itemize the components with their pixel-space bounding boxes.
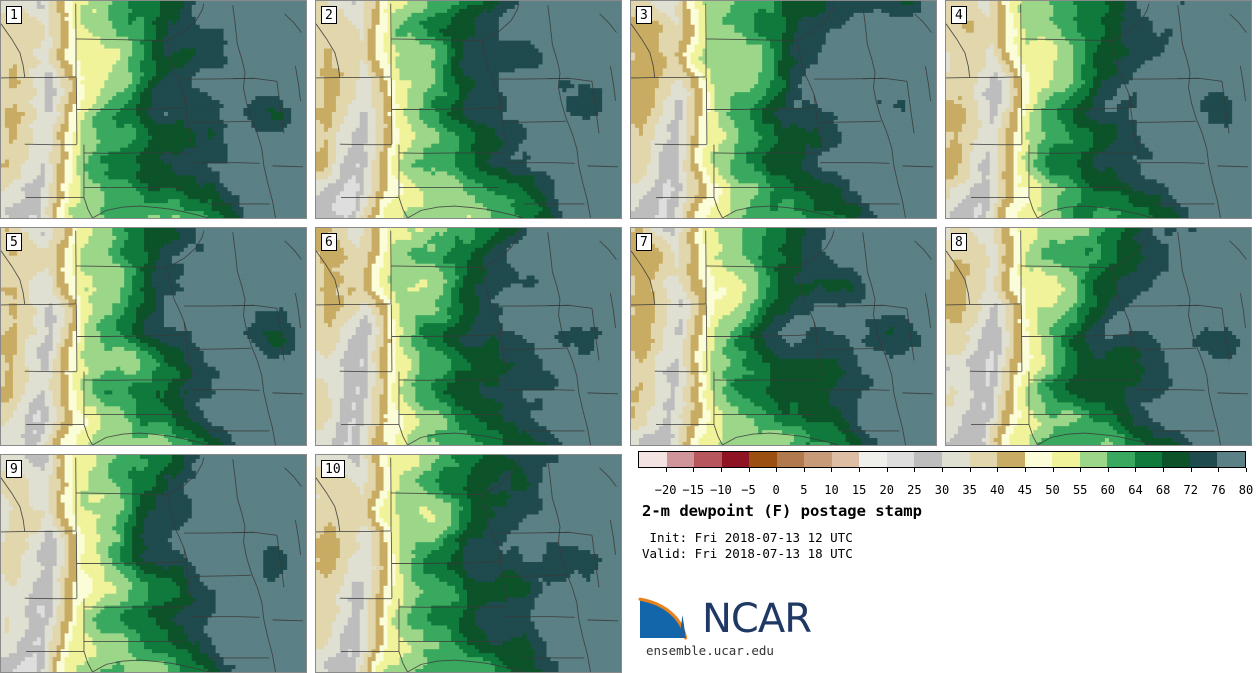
dewpoint-field [946, 1, 1251, 218]
ensemble-member-panel[interactable]: 6 [315, 227, 622, 446]
colorbar-tick-label: 80 [1239, 483, 1253, 497]
plot-title: 2-m dewpoint (F) postage stamp [642, 502, 922, 520]
colorbar-tick-label: 25 [907, 483, 921, 497]
dewpoint-contour-fill [631, 228, 936, 445]
panel-number-label: 6 [321, 233, 337, 251]
colorbar-tick-label: −5 [741, 483, 755, 497]
colorbar-tick [1025, 468, 1026, 472]
colorbar-swatch [667, 452, 695, 467]
dewpoint-contour-fill [316, 1, 621, 218]
ensemble-member-panel[interactable]: 5 [0, 227, 307, 446]
colorbar-swatch [970, 452, 998, 467]
colorbar-swatch [749, 452, 777, 467]
colorbar-tick [942, 468, 943, 472]
colorbar-swatch [1162, 452, 1190, 467]
colorbar-tick [1218, 468, 1219, 472]
colorbar-tick-label: 72 [1183, 483, 1197, 497]
colorbar-swatch [1190, 452, 1218, 467]
dewpoint-contour-fill [1, 1, 306, 218]
dewpoint-contour-fill [1, 228, 306, 445]
dewpoint-field [1, 455, 306, 672]
info-column: −20−15−10−505101520253035404550556064687… [630, 440, 1260, 663]
colorbar-swatch [1025, 452, 1053, 467]
colorbar-strip [638, 451, 1246, 468]
colorbar-tick [693, 468, 694, 472]
dewpoint-field [631, 228, 936, 445]
valid-time-label: Valid: Fri 2018-07-13 18 UTC [642, 546, 922, 561]
colorbar-tick [749, 468, 750, 472]
colorbar-swatch [1107, 452, 1135, 467]
panel-number-label: 3 [636, 6, 652, 24]
init-time-label: Init: Fri 2018-07-13 12 UTC [642, 530, 922, 545]
colorbar-swatch [1217, 452, 1245, 467]
panel-number-label: 4 [951, 6, 967, 24]
dewpoint-contour-fill [1, 455, 306, 672]
colorbar-tick-label: −20 [655, 483, 677, 497]
ncar-wordmark: NCAR [702, 597, 811, 641]
colorbar-tick-label: 68 [1156, 483, 1170, 497]
colorbar-tick [1053, 468, 1054, 472]
panel-number-label: 2 [321, 6, 337, 24]
colorbar-tick-label: 64 [1128, 483, 1142, 497]
colorbar-tick-label: 50 [1045, 483, 1059, 497]
colorbar-tick [831, 468, 832, 472]
dewpoint-contour-fill [631, 1, 936, 218]
dewpoint-field [316, 455, 621, 672]
colorbar-tick-label: 45 [1018, 483, 1032, 497]
colorbar-tick-label: 10 [824, 483, 838, 497]
colorbar-tick [914, 468, 915, 472]
colorbar-swatch [942, 452, 970, 467]
dewpoint-field [316, 1, 621, 218]
panel-number-label: 1 [6, 6, 22, 24]
colorbar-tick-label: 5 [800, 483, 807, 497]
panel-number-label: 8 [951, 233, 967, 251]
colorbar-tick-label: 60 [1101, 483, 1115, 497]
colorbar: −20−15−10−505101520253035404550556064687… [638, 451, 1246, 499]
colorbar-ticks [638, 468, 1246, 483]
colorbar-tick-label: 15 [852, 483, 866, 497]
colorbar-tick-label: 35 [962, 483, 976, 497]
colorbar-tick [887, 468, 888, 472]
site-url-label: ensemble.ucar.edu [646, 643, 811, 658]
colorbar-tick-label: 55 [1073, 483, 1087, 497]
colorbar-tick [859, 468, 860, 472]
colorbar-swatch [1052, 452, 1080, 467]
colorbar-tick-label: 30 [935, 483, 949, 497]
colorbar-tick [970, 468, 971, 472]
colorbar-tick [1108, 468, 1109, 472]
colorbar-tick-label: −10 [710, 483, 732, 497]
colorbar-tick [776, 468, 777, 472]
ensemble-member-panel[interactable]: 7 [630, 227, 937, 446]
panel-number-label: 5 [6, 233, 22, 251]
colorbar-tick-label: 40 [990, 483, 1004, 497]
colorbar-tick [1191, 468, 1192, 472]
colorbar-tick [666, 468, 667, 472]
colorbar-swatch [1135, 452, 1163, 467]
panel-number-label: 9 [6, 460, 22, 478]
colorbar-tick [1163, 468, 1164, 472]
ncar-logo-block: NCAR ensemble.ucar.edu [638, 595, 811, 658]
ensemble-member-panel[interactable]: 2 [315, 0, 622, 219]
dewpoint-field [946, 228, 1251, 445]
ensemble-member-panel[interactable]: 1 [0, 0, 307, 219]
colorbar-tick-label: 20 [879, 483, 893, 497]
colorbar-tick-label: 0 [773, 483, 780, 497]
colorbar-swatch [694, 452, 722, 467]
colorbar-tick-label: −15 [682, 483, 704, 497]
dewpoint-contour-fill [946, 228, 1251, 445]
ncar-logo-icon [638, 596, 700, 642]
colorbar-tick-labels: −20−15−10−505101520253035404550556064687… [638, 483, 1246, 499]
colorbar-tick [804, 468, 805, 472]
dewpoint-contour-fill [946, 1, 1251, 218]
dewpoint-field [316, 228, 621, 445]
panel-number-label: 10 [321, 460, 345, 478]
colorbar-swatch [832, 452, 860, 467]
colorbar-tick [1135, 468, 1136, 472]
ncar-logo-row: NCAR [638, 595, 811, 643]
dewpoint-field [631, 1, 936, 218]
colorbar-swatch [804, 452, 832, 467]
colorbar-swatch [777, 452, 805, 467]
title-block: 2-m dewpoint (F) postage stamp Init: Fri… [642, 502, 922, 561]
ensemble-member-panel[interactable]: 3 [630, 0, 937, 219]
dewpoint-contour-fill [316, 455, 621, 672]
colorbar-swatch [639, 452, 667, 467]
ensemble-member-panel[interactable]: 10 [315, 454, 622, 673]
ensemble-member-panel[interactable]: 8 [945, 227, 1252, 446]
ensemble-member-panel[interactable]: 9 [0, 454, 307, 673]
colorbar-swatch [997, 452, 1025, 467]
colorbar-tick [1080, 468, 1081, 472]
dewpoint-field [1, 1, 306, 218]
panel-number-label: 7 [636, 233, 652, 251]
ensemble-member-panel[interactable]: 4 [945, 0, 1252, 219]
colorbar-swatch [859, 452, 887, 467]
colorbar-swatch [887, 452, 915, 467]
colorbar-tick-label: 76 [1211, 483, 1225, 497]
colorbar-tick [997, 468, 998, 472]
colorbar-swatch [914, 452, 942, 467]
colorbar-tick [721, 468, 722, 472]
dewpoint-field [1, 228, 306, 445]
colorbar-swatch [1080, 452, 1108, 467]
colorbar-swatch [722, 452, 750, 467]
colorbar-tick [1246, 468, 1247, 472]
dewpoint-contour-fill [316, 228, 621, 445]
